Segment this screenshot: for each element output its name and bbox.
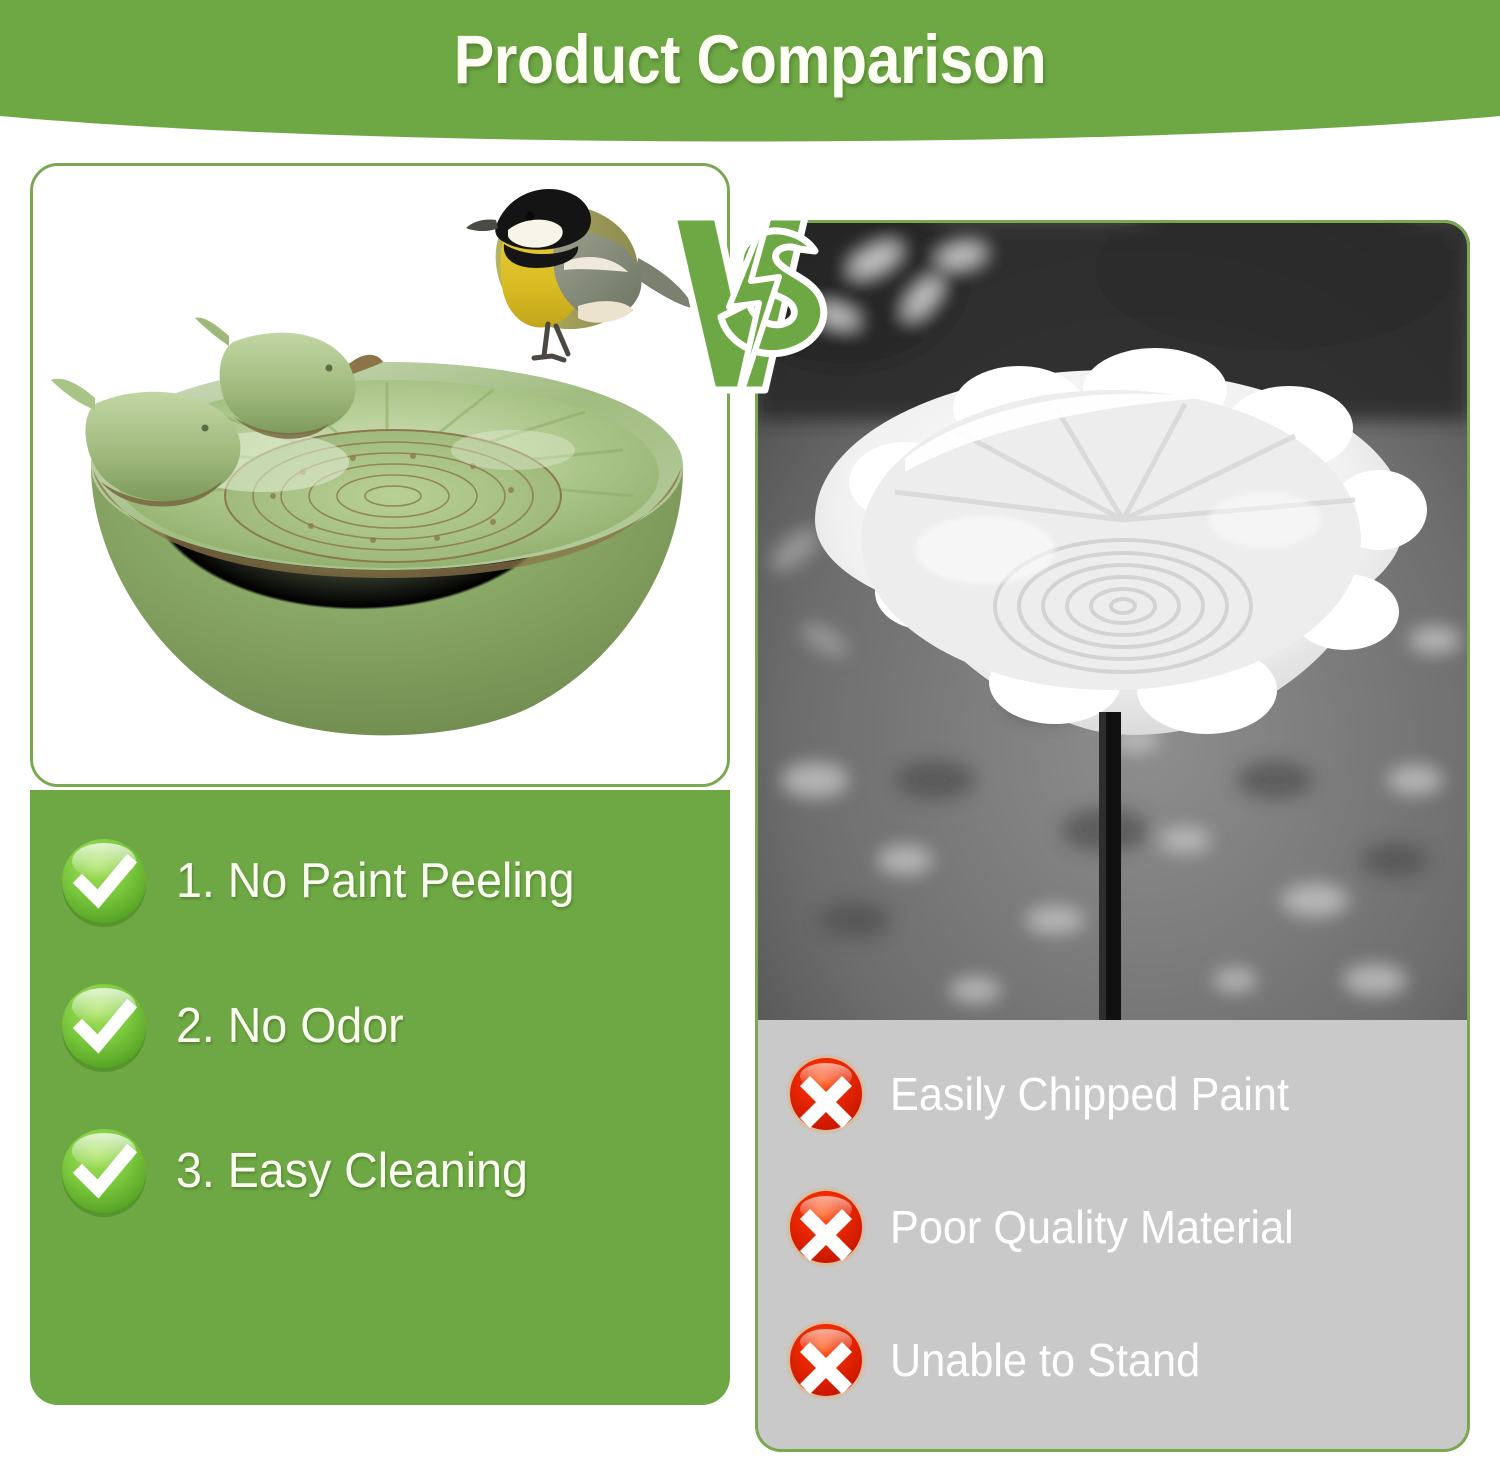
- con-row: Unable to Stand: [784, 1318, 1454, 1402]
- feature-label: 1. No Paint Peeling: [176, 853, 575, 909]
- con-row: Poor Quality Material: [784, 1185, 1454, 1269]
- con-label: Unable to Stand: [890, 1333, 1200, 1387]
- check-icon: [58, 835, 150, 927]
- check-icon: [58, 1125, 150, 1217]
- x-icon: [784, 1052, 868, 1136]
- right-cons-panel: Easily Chipped Paint Poor Quality Materi…: [755, 1020, 1470, 1452]
- feature-label: 3. Easy Cleaning: [176, 1143, 528, 1199]
- feature-row: 2. No Odor: [58, 980, 708, 1072]
- feature-row: 1. No Paint Peeling: [58, 835, 708, 927]
- con-label: Poor Quality Material: [890, 1200, 1294, 1254]
- right-product-column: Easily Chipped Paint Poor Quality Materi…: [755, 220, 1470, 1452]
- x-icon: [784, 1185, 868, 1269]
- vs-badge: [655, 185, 835, 420]
- right-product-photo-card: [755, 220, 1470, 1022]
- check-icon: [58, 980, 150, 1072]
- con-label: Easily Chipped Paint: [890, 1067, 1289, 1121]
- glass-birdbath-image: [755, 220, 1470, 1022]
- page-title: Product Comparison: [90, 20, 1410, 99]
- con-row: Easily Chipped Paint: [784, 1052, 1454, 1136]
- feature-row: 3. Easy Cleaning: [58, 1125, 708, 1217]
- left-features-panel: 1. No Paint Peeling 2. No Odor: [30, 790, 730, 1405]
- feature-label: 2. No Odor: [176, 998, 404, 1054]
- x-icon: [784, 1318, 868, 1402]
- header-banner: Product Comparison: [0, 0, 1500, 145]
